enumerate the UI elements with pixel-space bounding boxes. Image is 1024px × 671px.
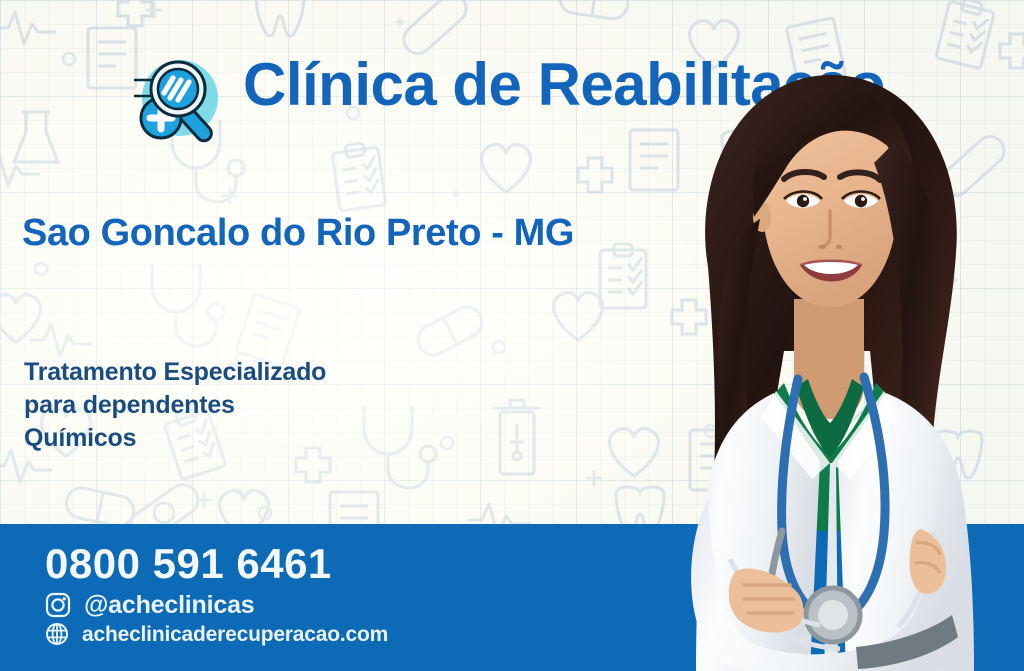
description-line-1: Tratamento Especializado (24, 356, 326, 389)
clinic-banner: Clínica de Reabilitação Sao Goncalo do R… (0, 0, 1024, 671)
female-doctor-photo (634, 31, 1024, 671)
website-url: acheclinicaderecuperacao.com (82, 624, 388, 645)
magnifier-plus-icon (126, 48, 230, 152)
instagram-icon (45, 592, 71, 618)
globe-icon (45, 622, 69, 646)
instagram-handle: @acheclinicas (84, 593, 254, 618)
location-text: Sao Goncalo do Rio Preto - MG (22, 214, 574, 252)
instagram-row[interactable]: @acheclinicas (45, 592, 254, 618)
website-row[interactable]: acheclinicaderecuperacao.com (45, 622, 388, 646)
phone-number[interactable]: 0800 591 6461 (45, 543, 332, 585)
description-line-3: Químicos (24, 422, 326, 455)
description-line-2: para dependentes (24, 389, 326, 422)
description-block: Tratamento Especializado para dependente… (24, 356, 326, 455)
